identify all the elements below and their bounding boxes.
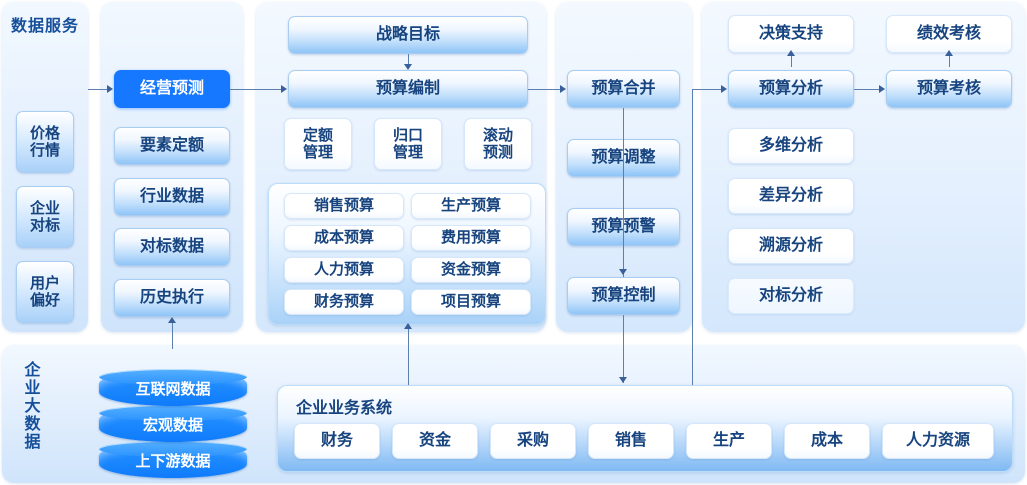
connector-bigdata-to-forecast [172, 322, 173, 349]
business-system-cost[interactable]: 成本 [784, 423, 870, 459]
data-service-item-price[interactable]: 价格行情 [16, 111, 74, 173]
budget-tile-label: 成本预算 [314, 229, 374, 246]
business-system-funds[interactable]: 资金 [392, 423, 478, 459]
bigdata-cylinder-supplychain[interactable]: 上下游数据 [99, 442, 247, 478]
analysis-item-label: 对标分析 [759, 287, 823, 305]
forecast-item-history-execution[interactable]: 历史执行 [114, 279, 230, 317]
data-service-item-label: 企业对标 [28, 200, 62, 235]
bigdata-cylinder-macro[interactable]: 宏观数据 [99, 406, 247, 442]
connector-control-to-systems [623, 315, 624, 383]
control-item-merge[interactable]: 预算合并 [567, 70, 680, 108]
business-system-label: 人力资源 [906, 432, 970, 450]
budget-tile-label: 费用预算 [441, 229, 501, 246]
arrowhead-down [619, 269, 627, 275]
business-system-label: 财务 [321, 432, 353, 450]
business-system-sales[interactable]: 销售 [588, 423, 674, 459]
business-system-label: 成本 [811, 432, 843, 450]
arrowhead-up [168, 317, 176, 323]
forecast-item-label: 对标数据 [140, 238, 204, 256]
data-service-item-benchmark[interactable]: 企业对标 [16, 186, 74, 248]
connector-assessment-to-performance [949, 55, 950, 67]
budget-tile-funds[interactable]: 资金预算 [411, 257, 531, 283]
budget-tile-production[interactable]: 生产预算 [411, 193, 531, 219]
connector-systems-to-analysis-horizontal [692, 89, 721, 90]
business-system-hr[interactable]: 人力资源 [882, 423, 994, 459]
budget-compile-label: 预算编制 [376, 80, 440, 98]
budget-tile-project[interactable]: 项目预算 [411, 289, 531, 315]
bigdata-cylinder-label: 上下游数据 [135, 450, 210, 471]
arrowhead-right [721, 85, 727, 93]
business-system-label: 销售 [615, 432, 647, 450]
control-item-label: 预算合并 [591, 80, 655, 98]
budget-assessment-label: 预算考核 [917, 80, 981, 98]
analysis-item-multidimensional[interactable]: 多维分析 [728, 128, 854, 164]
arrowhead-right [281, 85, 287, 93]
budget-tile-expense[interactable]: 费用预算 [411, 225, 531, 251]
budget-tile-finance[interactable]: 财务预算 [284, 289, 404, 315]
bigdata-panel-title-label: 企业大数据 [24, 362, 41, 451]
budget-tile-hr[interactable]: 人力预算 [284, 257, 404, 283]
connector-compile-to-merge [528, 89, 561, 90]
connector-analysis-to-decision [791, 55, 792, 67]
budget-compile-node[interactable]: 预算编制 [288, 70, 528, 108]
forecast-item-label: 经营预测 [140, 80, 204, 98]
business-system-label: 生产 [713, 432, 745, 450]
business-system-label: 采购 [517, 432, 549, 450]
bigdata-panel-title: 企业大数据 [22, 362, 44, 452]
budget-assessment-node[interactable]: 预算考核 [886, 70, 1012, 108]
decision-support-node[interactable]: 决策支持 [728, 15, 854, 53]
bigdata-cylinder-internet[interactable]: 互联网数据 [99, 370, 247, 406]
data-service-item-label: 价格行情 [28, 125, 62, 160]
forecast-item-business-forecast[interactable]: 经营预测 [114, 70, 230, 108]
budget-tile-label: 财务预算 [314, 293, 374, 310]
forecast-item-label: 行业数据 [140, 188, 204, 206]
connector-analysis-to-assessment [854, 89, 880, 90]
forecast-item-label: 要素定额 [140, 137, 204, 155]
performance-assessment-label: 绩效考核 [917, 25, 981, 43]
budget-mode-quota[interactable]: 定额管理 [284, 118, 352, 170]
connector-control-chain [623, 108, 624, 277]
analysis-item-label: 溯源分析 [759, 237, 823, 255]
budget-mode-label: 定额管理 [301, 127, 335, 162]
bigdata-cylinder-label: 互联网数据 [135, 378, 210, 399]
connector-systems-to-budget [408, 328, 409, 385]
connector-dataservice-to-forecast [88, 89, 108, 90]
budget-analysis-label: 预算分析 [759, 80, 823, 98]
arrowhead-right [107, 85, 113, 93]
forecast-item-industry-data[interactable]: 行业数据 [114, 178, 230, 216]
forecast-item-benchmark-data[interactable]: 对标数据 [114, 228, 230, 266]
budget-tile-label: 项目预算 [441, 293, 501, 310]
business-system-label: 资金 [419, 432, 451, 450]
forecast-item-label: 历史执行 [140, 289, 204, 307]
arrowhead-up [404, 323, 412, 329]
budget-analysis-node[interactable]: 预算分析 [728, 70, 854, 108]
strategy-goal-label: 战略目标 [376, 26, 440, 44]
data-service-title: 数据服务 [10, 18, 80, 36]
analysis-item-label: 多维分析 [759, 137, 823, 155]
data-service-item-label: 用户偏好 [28, 275, 62, 310]
arrowhead-right [879, 85, 885, 93]
budget-mode-centralized[interactable]: 归口管理 [374, 118, 442, 170]
business-system-procurement[interactable]: 采购 [490, 423, 576, 459]
budget-tile-sales[interactable]: 销售预算 [284, 193, 404, 219]
analysis-item-benchmark[interactable]: 对标分析 [728, 278, 854, 314]
connector-systems-to-analysis-vertical [692, 89, 693, 385]
arrowhead-down [619, 377, 627, 383]
bigdata-cylinder-label: 宏观数据 [143, 414, 203, 435]
arrowhead-down [404, 64, 412, 70]
connector-forecast-to-compile [230, 89, 282, 90]
performance-assessment-node[interactable]: 绩效考核 [886, 15, 1012, 53]
business-system-production[interactable]: 生产 [686, 423, 772, 459]
budget-mode-label: 滚动预测 [481, 127, 515, 162]
arrowhead-right [560, 85, 566, 93]
budget-tile-cost[interactable]: 成本预算 [284, 225, 404, 251]
data-service-item-preference[interactable]: 用户偏好 [16, 261, 74, 323]
decision-support-label: 决策支持 [759, 25, 823, 43]
analysis-item-label: 差异分析 [759, 187, 823, 205]
arrowhead-up [945, 50, 953, 56]
budget-mode-rolling-forecast[interactable]: 滚动预测 [464, 118, 532, 170]
strategy-goal-node[interactable]: 战略目标 [288, 16, 528, 54]
budget-tile-label: 资金预算 [441, 261, 501, 278]
arrowhead-up [787, 50, 795, 56]
budget-tile-label: 生产预算 [441, 197, 501, 214]
control-item-control[interactable]: 预算控制 [567, 277, 680, 315]
diagram-canvas: 数据服务 价格行情 企业对标 用户偏好 经营预测 要素定额 行业数据 对标数据 … [0, 0, 1027, 485]
control-item-label: 预算控制 [591, 287, 655, 305]
budget-tile-label: 人力预算 [314, 261, 374, 278]
business-systems-title: 企业业务系统 [296, 394, 392, 418]
budget-mode-label: 归口管理 [391, 127, 425, 162]
business-system-finance[interactable]: 财务 [294, 423, 380, 459]
analysis-item-variance[interactable]: 差异分析 [728, 178, 854, 214]
analysis-item-traceability[interactable]: 溯源分析 [728, 228, 854, 264]
budget-tile-label: 销售预算 [314, 197, 374, 214]
forecast-item-factor-quota[interactable]: 要素定额 [114, 127, 230, 165]
